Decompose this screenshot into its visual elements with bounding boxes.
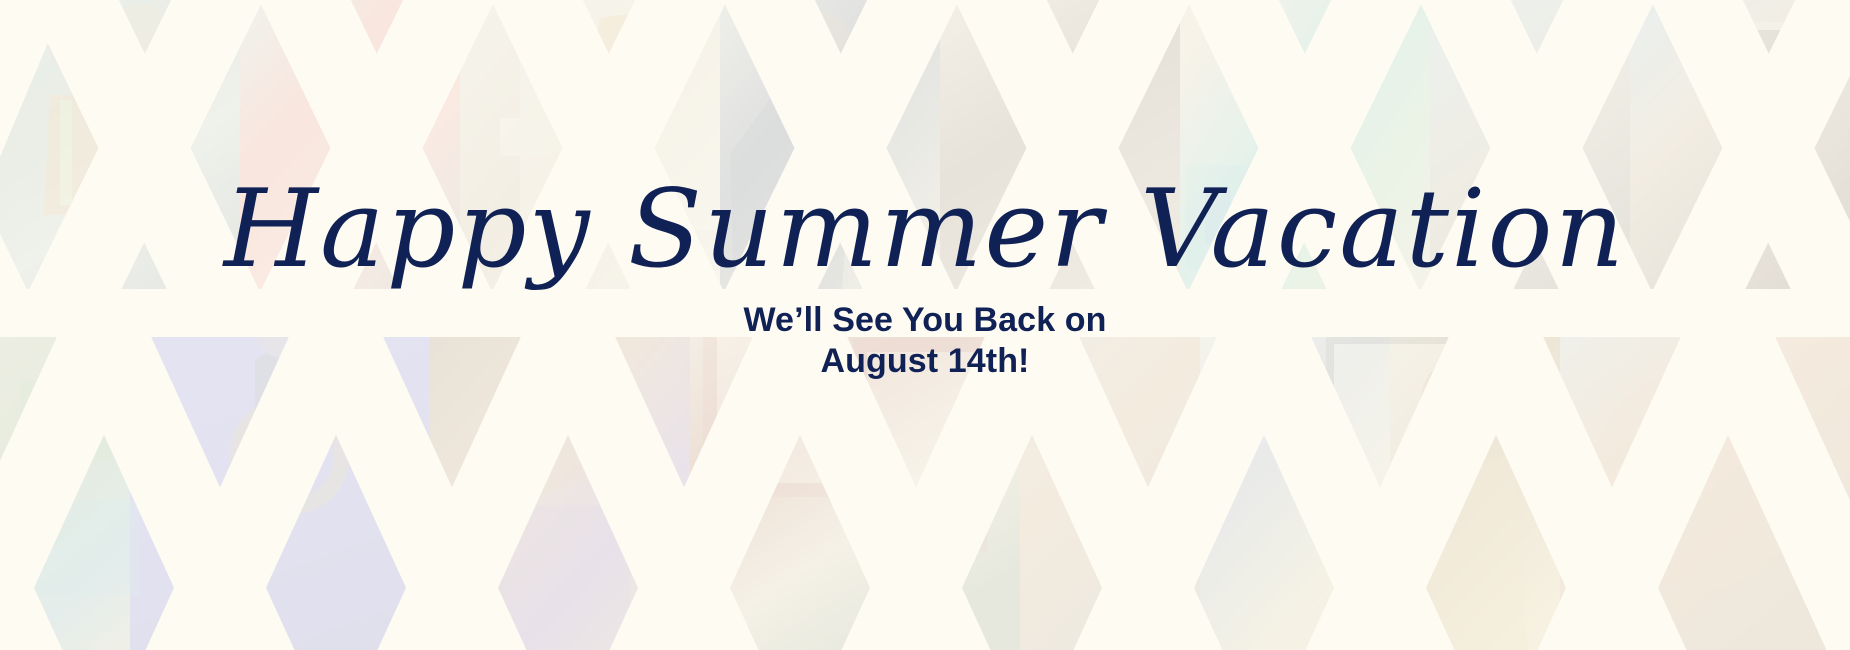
collage-upper-band <box>0 0 1850 300</box>
summer-vacation-banner: Happy Summer Vacation We’ll See You Back… <box>0 0 1850 650</box>
collage-photos <box>0 0 1850 650</box>
photo-collage <box>0 0 1850 650</box>
